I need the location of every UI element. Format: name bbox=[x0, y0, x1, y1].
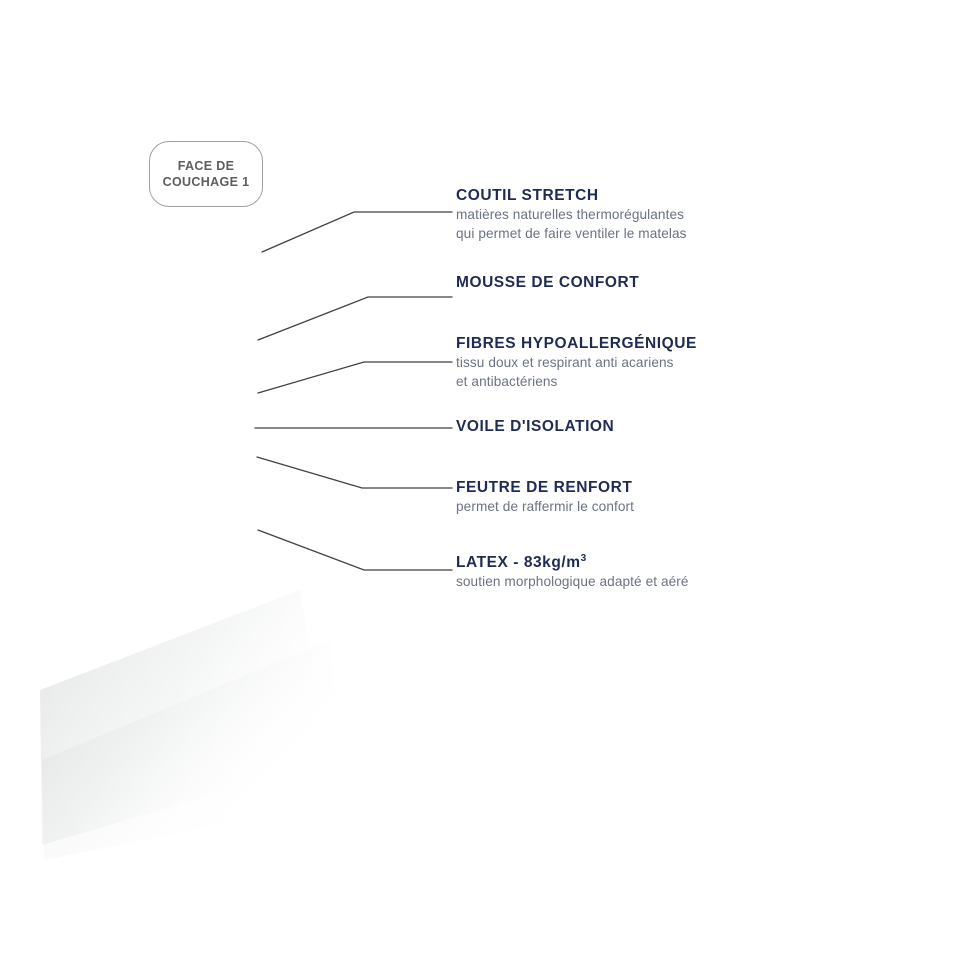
leader-line-feutre-de-renfort bbox=[257, 457, 452, 488]
badge-line-1: FACE DE bbox=[178, 158, 235, 174]
label-voile-disolation: VOILE D'ISOLATION bbox=[456, 417, 614, 436]
label-sub2-coutil-stretch: qui permet de faire ventiler le matelas bbox=[456, 225, 687, 243]
leader-line-fibres-hypoallergenique bbox=[258, 362, 452, 393]
label-fibres-hypoallergenique: FIBRES HYPOALLERGÉNIQUE tissu doux et re… bbox=[456, 334, 697, 390]
face-de-couchage-badge: FACE DE COUCHAGE 1 bbox=[149, 141, 263, 207]
label-mousse-de-confort: MOUSSE DE CONFORT bbox=[456, 273, 639, 292]
leader-line-coutil-stretch bbox=[262, 212, 452, 252]
label-title-voile-disolation: VOILE D'ISOLATION bbox=[456, 417, 614, 436]
label-sub2-fibres-hypoallergenique: et antibactériens bbox=[456, 373, 697, 391]
label-title-fibres-hypoallergenique: FIBRES HYPOALLERGÉNIQUE bbox=[456, 334, 697, 353]
label-feutre-de-renfort: FEUTRE DE RENFORT permet de raffermir le… bbox=[456, 478, 634, 516]
label-sub1-coutil-stretch: matières naturelles thermorégulantes bbox=[456, 206, 687, 224]
label-coutil-stretch: COUTIL STRETCH matières naturelles therm… bbox=[456, 186, 687, 242]
label-title-coutil-stretch: COUTIL STRETCH bbox=[456, 186, 687, 205]
label-title-latex: LATEX - 83kg/m3 bbox=[456, 549, 689, 572]
label-sub1-fibres-hypoallergenique: tissu doux et respirant anti acariens bbox=[456, 354, 697, 372]
label-title-latex-superscript: 3 bbox=[581, 553, 587, 564]
label-sub1-latex: soutien morphologique adapté et aéré bbox=[456, 573, 689, 591]
label-latex: LATEX - 83kg/m3 soutien morphologique ad… bbox=[456, 549, 689, 591]
label-title-latex-text: LATEX - 83kg/m bbox=[456, 554, 581, 571]
badge-line-2: COUCHAGE 1 bbox=[163, 174, 250, 190]
label-title-feutre-de-renfort: FEUTRE DE RENFORT bbox=[456, 478, 634, 497]
label-title-mousse-de-confort: MOUSSE DE CONFORT bbox=[456, 273, 639, 292]
label-sub1-feutre-de-renfort: permet de raffermir le confort bbox=[456, 498, 634, 516]
leader-line-mousse-de-confort bbox=[258, 297, 452, 340]
mattress-layers-diagram: FACE DE COUCHAGE 1 COUTIL STRETCH matièr… bbox=[0, 0, 970, 971]
